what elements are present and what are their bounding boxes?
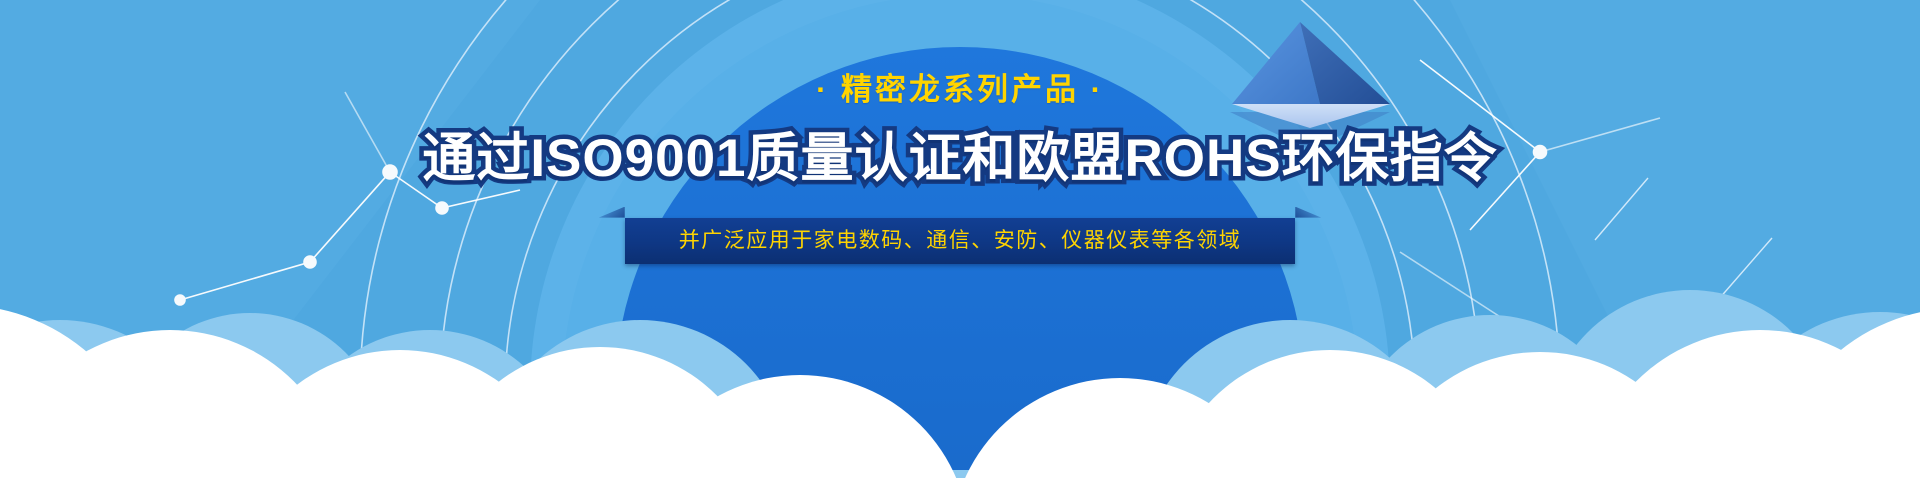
banner-headline: 通过ISO9001质量认证和欧盟ROHS环保指令 <box>422 131 1497 187</box>
banner-tagline-wrap: 并广泛应用于家电数码、通信、安防、仪器仪表等各领域 <box>625 217 1296 265</box>
banner-tagline-text: 并广泛应用于家电数码、通信、安防、仪器仪表等各领域 <box>679 230 1242 251</box>
banner-eyebrow: · 精密龙系列产品 · <box>816 74 1104 105</box>
promo-banner: · 精密龙系列产品 · 通过ISO9001质量认证和欧盟ROHS环保指令 并广泛… <box>0 0 1920 480</box>
banner-tagline-box: 并广泛应用于家电数码、通信、安防、仪器仪表等各领域 <box>625 218 1296 264</box>
